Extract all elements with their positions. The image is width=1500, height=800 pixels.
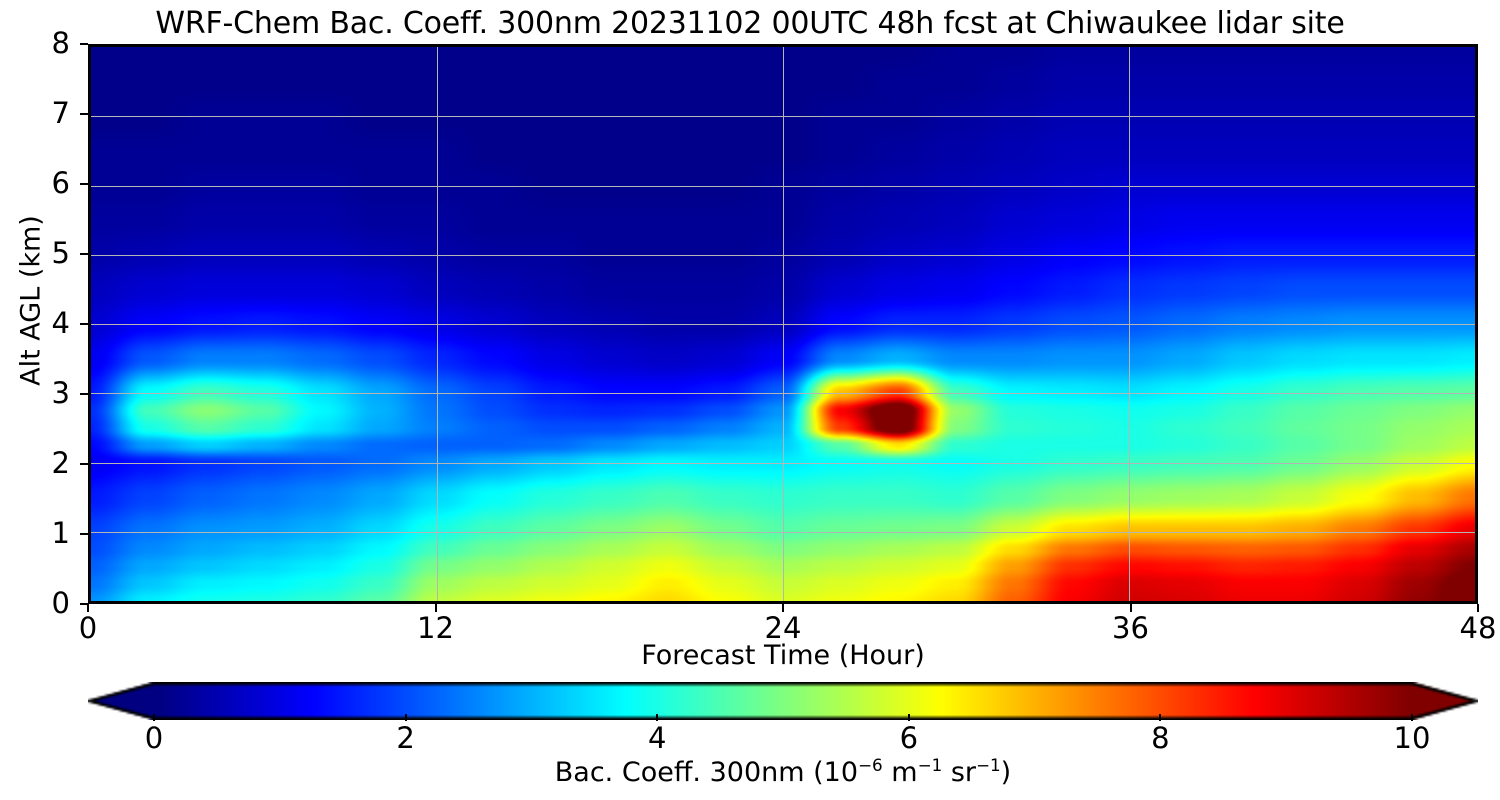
colorbar-label-main: Bac. Coeff. 300nm (10 — [555, 757, 858, 788]
page-title: WRF-Chem Bac. Coeff. 300nm 20231102 00UT… — [0, 6, 1500, 41]
colorbar-tick-mark — [153, 714, 155, 721]
colorbar-label-mid: m — [883, 757, 918, 788]
y-tick-mark — [80, 183, 88, 185]
y-tick-mark — [80, 113, 88, 115]
colorbar-label-close: ) — [1001, 757, 1012, 788]
colorbar-label-exp1: −6 — [858, 755, 883, 775]
y-tick-mark — [80, 393, 88, 395]
colorbar — [88, 682, 1478, 720]
main-plot-area — [88, 44, 1478, 604]
y-tick-label: 1 — [30, 519, 70, 548]
y-axis-label: Alt AGL (km) — [16, 136, 47, 466]
y-tick-mark — [80, 463, 88, 465]
x-tick-label: 48 — [1433, 614, 1500, 643]
x-axis-label: Forecast Time (Hour) — [88, 640, 1478, 671]
colorbar-tick-label: 4 — [617, 724, 697, 753]
y-tick-mark — [80, 43, 88, 45]
colorbar-tick-label: 8 — [1120, 724, 1200, 753]
colorbar-label-exp2: −1 — [918, 755, 943, 775]
heatmap-field — [91, 47, 1475, 601]
colorbar-tick-mark — [1411, 714, 1413, 721]
y-tick-mark — [80, 253, 88, 255]
colorbar-label-sr: sr — [942, 757, 976, 788]
colorbar-tick-label: 0 — [114, 724, 194, 753]
y-tick-label: 7 — [30, 99, 70, 128]
colorbar-tick-mark — [908, 714, 910, 721]
x-tick-label: 0 — [43, 614, 133, 643]
x-tick-label: 36 — [1086, 614, 1176, 643]
x-tick-label: 24 — [738, 614, 828, 643]
colorbar-tick-label: 10 — [1372, 724, 1452, 753]
colorbar-label-exp3: −1 — [976, 755, 1001, 775]
colorbar-tick-mark — [405, 714, 407, 721]
y-tick-mark — [80, 533, 88, 535]
colorbar-label: Bac. Coeff. 300nm (10−6 m−1 sr−1) — [88, 757, 1478, 788]
y-tick-label: 8 — [30, 29, 70, 58]
figure-canvas: WRF-Chem Bac. Coeff. 300nm 20231102 00UT… — [0, 0, 1500, 800]
colorbar-gradient — [88, 682, 1478, 720]
x-tick-label: 12 — [391, 614, 481, 643]
colorbar-tick-mark — [1159, 714, 1161, 721]
colorbar-tick-label: 2 — [366, 724, 446, 753]
colorbar-tick-label: 6 — [869, 724, 949, 753]
colorbar-tick-mark — [656, 714, 658, 721]
y-tick-mark — [80, 323, 88, 325]
